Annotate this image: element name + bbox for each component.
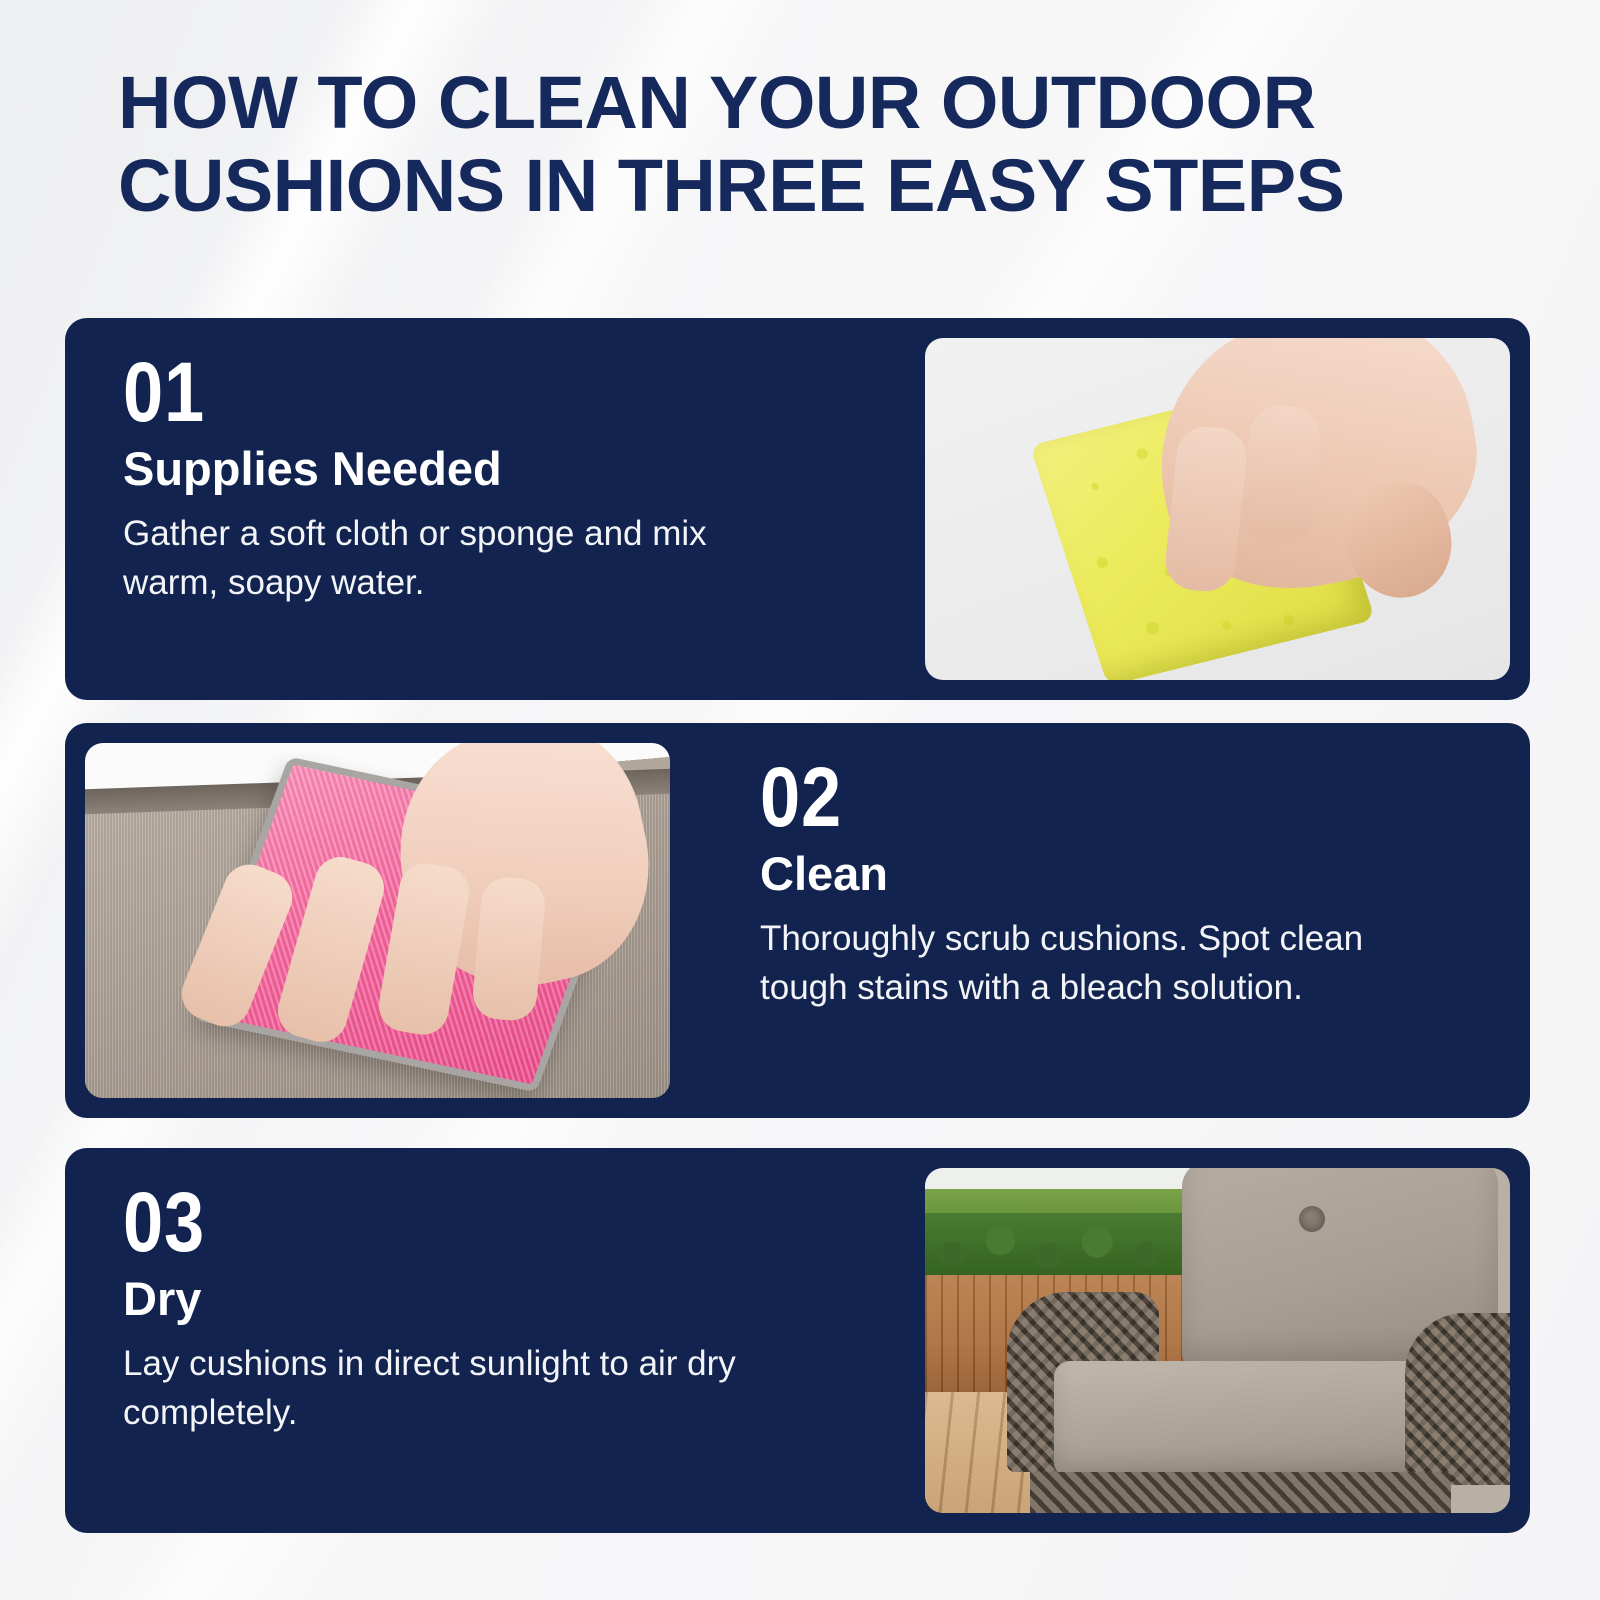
step-card-3-image-area <box>905 1148 1530 1533</box>
microfiber-cloth-photo <box>85 743 670 1098</box>
step-2-number: 02 <box>760 757 1388 838</box>
step-3-number: 03 <box>123 1182 761 1263</box>
step-card-2-text: 02 Clean Thoroughly scrub cushions. Spot… <box>690 723 1530 1118</box>
step-card-1-text: 01 Supplies Needed Gather a soft cloth o… <box>65 318 905 700</box>
step-card-3: 03 Dry Lay cushions in direct sunlight t… <box>65 1148 1530 1533</box>
step-card-1: 01 Supplies Needed Gather a soft cloth o… <box>65 318 1530 700</box>
wicker-arm-right-shape <box>1405 1313 1510 1486</box>
wicker-base-shape <box>1030 1472 1451 1513</box>
patio-chair-photo <box>925 1168 1510 1513</box>
step-card-3-layout: 03 Dry Lay cushions in direct sunlight t… <box>65 1148 1530 1533</box>
hedge-shape <box>925 1213 1194 1282</box>
step-1-title: Supplies Needed <box>123 443 865 495</box>
step-card-1-layout: 01 Supplies Needed Gather a soft cloth o… <box>65 318 1530 700</box>
step-card-2: 02 Clean Thoroughly scrub cushions. Spot… <box>65 723 1530 1118</box>
step-3-description: Lay cushions in direct sunlight to air d… <box>123 1340 803 1437</box>
step-card-2-layout: 02 Clean Thoroughly scrub cushions. Spot… <box>65 723 1530 1118</box>
step-3-title: Dry <box>123 1273 865 1325</box>
step-card-2-image-area <box>65 723 690 1118</box>
step-1-description: Gather a soft cloth or sponge and mix wa… <box>123 510 803 607</box>
step-2-title: Clean <box>760 848 1490 900</box>
step-2-description: Thoroughly scrub cushions. Spot clean to… <box>760 915 1440 1012</box>
finger-shape <box>1242 404 1322 545</box>
step-1-number: 01 <box>123 352 761 433</box>
infographic-page: HOW TO CLEAN YOUR OUTDOOR CUSHIONS IN TH… <box>0 0 1600 1600</box>
page-title: HOW TO CLEAN YOUR OUTDOOR CUSHIONS IN TH… <box>118 62 1518 228</box>
finger-shape <box>471 875 547 1022</box>
sponge-photo <box>925 338 1510 680</box>
step-card-1-image-area <box>905 318 1530 700</box>
step-card-3-text: 03 Dry Lay cushions in direct sunlight t… <box>65 1148 905 1533</box>
